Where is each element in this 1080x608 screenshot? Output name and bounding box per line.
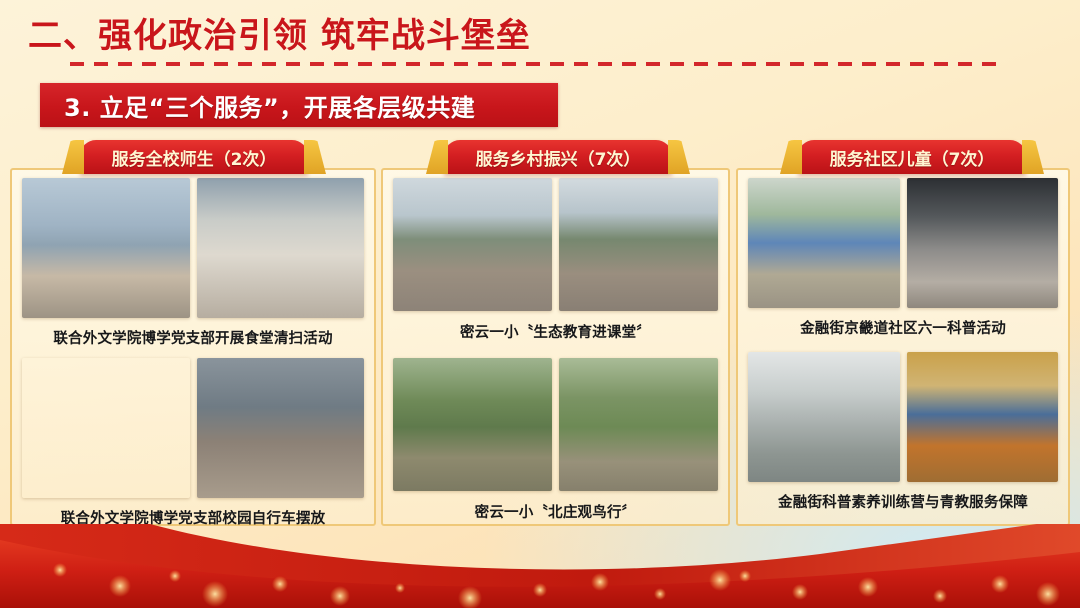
photo-caption-2: 金融街科普素养训练营与青教服务保障	[748, 491, 1058, 512]
photo-classroom-lecture-right	[559, 178, 718, 311]
subtitle-text: 3. 立足“三个服务”，开展各层级共建	[40, 88, 475, 123]
photo-caption-1: 联合外文学院博学党支部开展食堂清扫活动	[22, 327, 364, 348]
photo-bicycle-arrangement	[197, 358, 365, 498]
photo-caption-1: 金融街京畿道社区六一科普活动	[748, 317, 1058, 338]
photo-community-science-booth	[748, 178, 900, 308]
photo-row	[748, 178, 1058, 308]
bottom-ribbon-decoration	[0, 524, 1080, 608]
photo-row	[748, 352, 1058, 482]
photo-children-science-experiment	[907, 352, 1059, 482]
column-panel-rural-revitalization: 密云一小〝生态教育进课堂〞 密云一小〝北庄观鸟行〞	[381, 168, 730, 526]
photo-birdwatching-photography	[393, 358, 552, 491]
photo-group-photo-with-banners	[22, 178, 190, 318]
column-badge-2: 服务乡村振兴（7次）	[444, 140, 672, 174]
photo-campus-street-volunteers	[22, 358, 190, 498]
photo-training-camp-hall	[748, 352, 900, 482]
photo-students-outdoor-walk	[559, 358, 718, 491]
photo-row	[393, 358, 718, 491]
column-panel-services-students: 联合外文学院博学党支部开展食堂清扫活动 联合外文学院博学党支部校园自行车摆放	[10, 168, 376, 526]
photo-row	[22, 178, 364, 318]
subtitle-banner: 3. 立足“三个服务”，开展各层级共建	[40, 83, 558, 127]
photo-row	[393, 178, 718, 311]
photo-classroom-lecture-left	[393, 178, 552, 311]
photo-caption-1: 密云一小〝生态教育进课堂〞	[393, 321, 718, 342]
photo-row	[22, 358, 364, 498]
column-badge-3: 服务社区儿童（7次）	[798, 140, 1026, 174]
page-title: 二、强化政治引领 筑牢战斗堡垒	[28, 8, 531, 57]
photo-caption-2: 密云一小〝北庄观鸟行〞	[393, 501, 718, 522]
header-dashed-divider	[70, 62, 1005, 66]
photo-science-activity-indoor	[907, 178, 1059, 308]
column-panel-community-children: 金融街京畿道社区六一科普活动 金融街科普素养训练营与青教服务保障	[736, 168, 1070, 526]
photo-canteen-cleaning-activity	[197, 178, 365, 318]
column-badge-1: 服务全校师生（2次）	[80, 140, 308, 174]
